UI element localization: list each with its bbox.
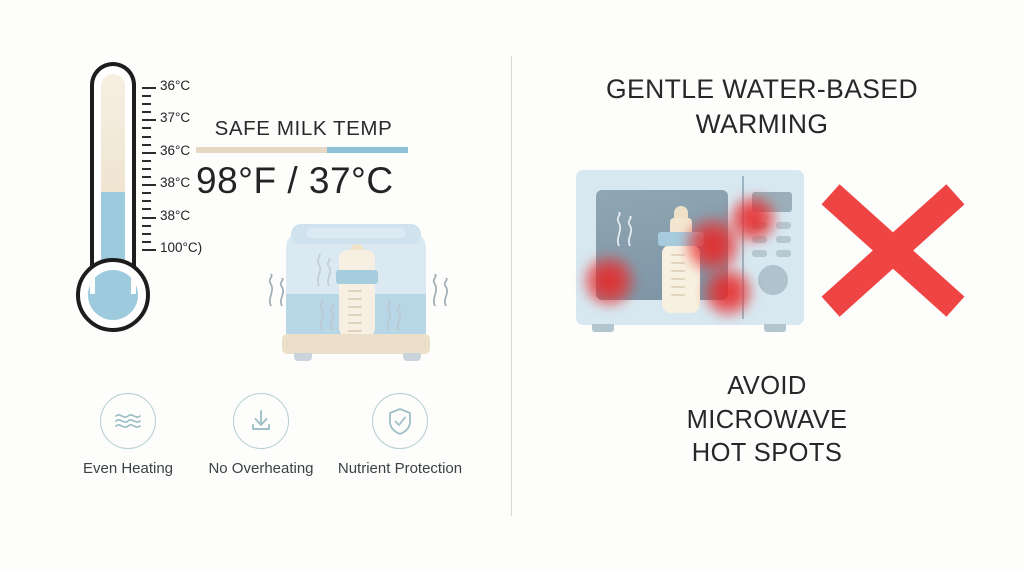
tick-mark [142,233,151,235]
avoid-microwave-footer: AVOID MICROWAVE HOT SPOTS [612,370,922,471]
milk-temperature-thermometer: 36°C37°C36°C38°C38°C100°C) [72,62,202,324]
bottle-measure-tick [348,306,362,308]
microwave-foot-left [592,324,614,332]
steam-wisp [614,212,617,246]
microwave-hotspot [702,266,754,318]
steam-wisp [327,304,330,330]
warmer-base [282,334,430,354]
tick-mark [142,241,151,243]
tick-mark [142,144,151,146]
thermometer-tick-minor [142,222,272,230]
thermometer-mask-right [131,272,136,294]
tick-mark [142,95,151,97]
microwave-dial[interactable] [758,265,788,295]
bottle-measure-tick [348,298,362,300]
safe-milk-temp-block: SAFE MILK TEMP 98°F / 37°C [196,117,411,202]
feature-label: Nutrient Protection [330,459,470,479]
waves-icon [100,393,156,449]
microwave-foot-right [764,324,786,332]
warmer-lid-inner [306,228,406,238]
tick-mark [142,217,156,219]
thermometer-tick-minor [142,92,272,100]
shield-check-icon [372,393,428,449]
steam-wisp [324,258,327,286]
bottle-warmer-illustration [262,222,452,367]
download-arrow-icon [233,393,289,449]
tick-mark [142,249,156,251]
tick-mark [142,136,151,138]
steam-wisp [384,300,387,330]
thermometer-tick-major: 38°C [142,214,272,222]
thermometer-tick-major: 100°C) [142,246,272,254]
safe-milk-temp-label: SAFE MILK TEMP [196,117,411,141]
safe-milk-temp-value: 98°F / 37°C [196,160,411,202]
tick-mark [142,176,151,178]
thermometer-scale-label: 38°C [160,208,190,223]
bottle-measure-tick [348,290,362,292]
tick-mark [142,200,151,202]
thermometer-scale-label: 100°C) [160,240,202,255]
tick-mark [142,127,151,129]
steam-wisp [430,274,433,306]
thermometer-scale-label: 38°C [160,175,190,190]
bottle-measure-tick [671,286,685,288]
tick-mark [142,168,151,170]
warmer-foot-right [403,353,421,361]
thermometer-tick-minor [142,230,272,238]
heading-line-2: WARMING [562,107,962,142]
footer-line-1: AVOID [612,370,922,404]
gentle-warming-heading: GENTLE WATER-BASED WARMING [562,72,962,142]
thermometer-bulb [76,258,150,332]
feature-waves: Even Heating [58,393,198,479]
bottle-measure-tick [348,314,362,316]
feature-shield-check: Nutrient Protection [330,393,470,479]
heading-line-1: GENTLE WATER-BASED [562,72,962,107]
bottle-measure-tick [348,322,362,324]
footer-line-3: HOT SPOTS [612,437,922,471]
tick-mark [142,152,156,154]
tick-mark [142,225,151,227]
steam-wisp [266,274,269,306]
microwave-hotspot [728,194,778,244]
steam-wisp [317,300,320,330]
tick-mark [142,184,156,186]
footer-line-2: MICROWAVE [612,404,922,438]
bottle-measure-tick [671,294,685,296]
steam-wisp [625,216,628,246]
safe-milk-temp-bar [196,147,408,153]
thermometer-warm-fill [101,74,125,198]
feature-label: Even Heating [58,459,198,479]
steam-wisp [314,254,317,286]
infographic-canvas: 36°C37°C36°C38°C38°C100°C) SAFE MILK TEM… [0,0,1024,572]
tick-mark [142,87,156,89]
feature-icon-row: Even HeatingNo OverheatingNutrient Prote… [58,393,458,498]
bottle-measure-tick [671,278,685,280]
thermometer-scale-label: 36°C [160,78,190,93]
bottle-measure-tick [671,254,685,256]
bottle-measure-tick [348,330,362,332]
feature-download-arrow: No Overheating [191,393,331,479]
steam-wisp [441,278,444,306]
microwave-button[interactable] [776,250,791,257]
tick-mark [142,103,151,105]
thermometer-tick-minor [142,100,272,108]
steam-wisp [394,304,397,330]
microwave-button[interactable] [776,222,791,229]
thermometer-tube [90,62,136,284]
bar-segment-cool [327,147,408,153]
warmer-bottle-collar [336,270,378,284]
warmer-foot-left [294,353,312,361]
feature-label: No Overheating [191,459,331,479]
tick-mark [142,160,151,162]
microwave-button[interactable] [752,250,767,257]
bar-segment-warm [196,147,327,153]
warmer-bottle-body [339,250,375,338]
bottle-measure-tick [671,262,685,264]
tick-mark [142,208,151,210]
microwave-hotspot [582,254,636,308]
tick-mark [142,192,151,194]
steam-wisp [277,278,280,306]
tick-mark [142,119,156,121]
thermometer-mask-left [90,272,95,294]
tick-mark [142,111,151,113]
thermometer-scale-label: 37°C [160,110,190,125]
panel-divider [511,56,512,516]
thermometer-scale-label: 36°C [160,143,190,158]
red-x-mark [822,182,964,318]
thermometer-tick-major: 36°C [142,84,272,92]
microwave-illustration [576,170,812,340]
bottle-measure-tick [671,270,685,272]
microwave-button[interactable] [776,236,791,243]
